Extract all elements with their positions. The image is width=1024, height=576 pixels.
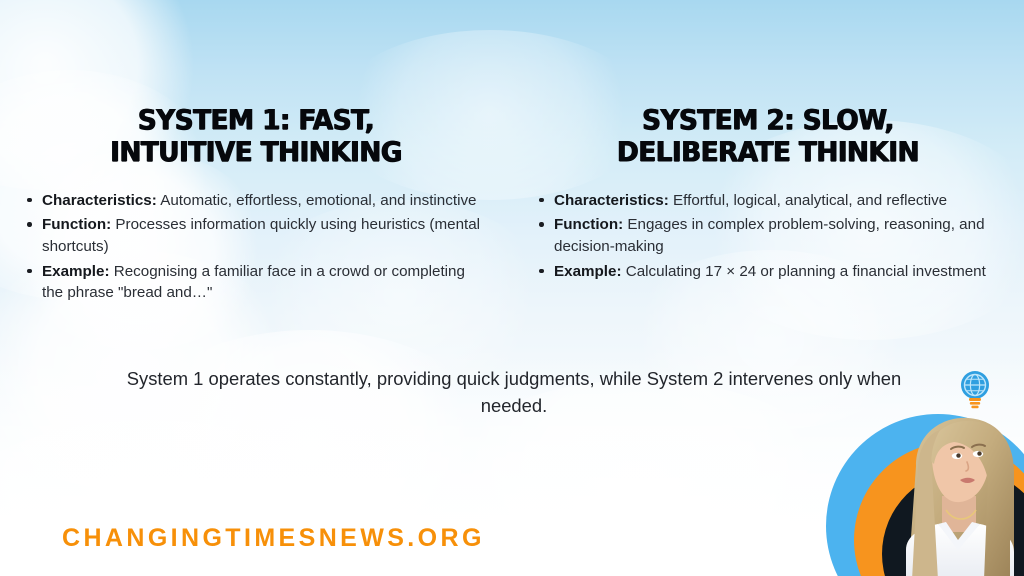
column-title-system-2: SYSTEM 2: SLOW, DELIBERATE THINKIN [539,104,998,168]
bullet-label: Example: [554,263,622,280]
portrait-image [872,410,1024,576]
bullet-text: Calculating 17 × 24 or planning a financ… [626,263,986,280]
list-item: Example: Calculating 17 × 24 or planning… [554,261,1004,283]
bullet-text: Automatic, effortless, emotional, and in… [160,192,476,209]
list-item: Characteristics: Effortful, logical, ana… [554,190,1004,212]
column-system-2: SYSTEM 2: SLOW, DELIBERATE THINKIN Chara… [512,104,1024,307]
list-item: Function: Engages in complex problem-sol… [554,214,1004,257]
list-item: Function: Processes information quickly … [42,214,482,257]
bullet-list-system-2: Characteristics: Effortful, logical, ana… [524,190,1012,282]
list-item: Example: Recognising a familiar face in … [42,261,482,304]
bullet-label: Function: [42,216,111,233]
bullet-list-system-1: Characteristics: Automatic, effortless, … [12,190,500,304]
bullet-label: Function: [554,216,623,233]
summary-text: System 1 operates constantly, providing … [96,366,932,419]
brand-badge [820,360,1024,576]
slide: SYSTEM 1: FAST, INTUITIVE THINKING Chara… [0,0,1024,576]
lightbulb-globe-icon [958,368,992,412]
bullet-label: Characteristics: [42,192,157,209]
content-columns: SYSTEM 1: FAST, INTUITIVE THINKING Chara… [0,104,1024,307]
bullet-label: Example: [42,263,110,280]
column-system-1: SYSTEM 1: FAST, INTUITIVE THINKING Chara… [0,104,512,307]
list-item: Characteristics: Automatic, effortless, … [42,190,482,212]
column-title-system-1: SYSTEM 1: FAST, INTUITIVE THINKING [27,104,486,168]
brand-url: CHANGINGTIMESNEWS.ORG [62,524,485,553]
bullet-label: Characteristics: [554,192,669,209]
bullet-text: Effortful, logical, analytical, and refl… [673,192,947,209]
